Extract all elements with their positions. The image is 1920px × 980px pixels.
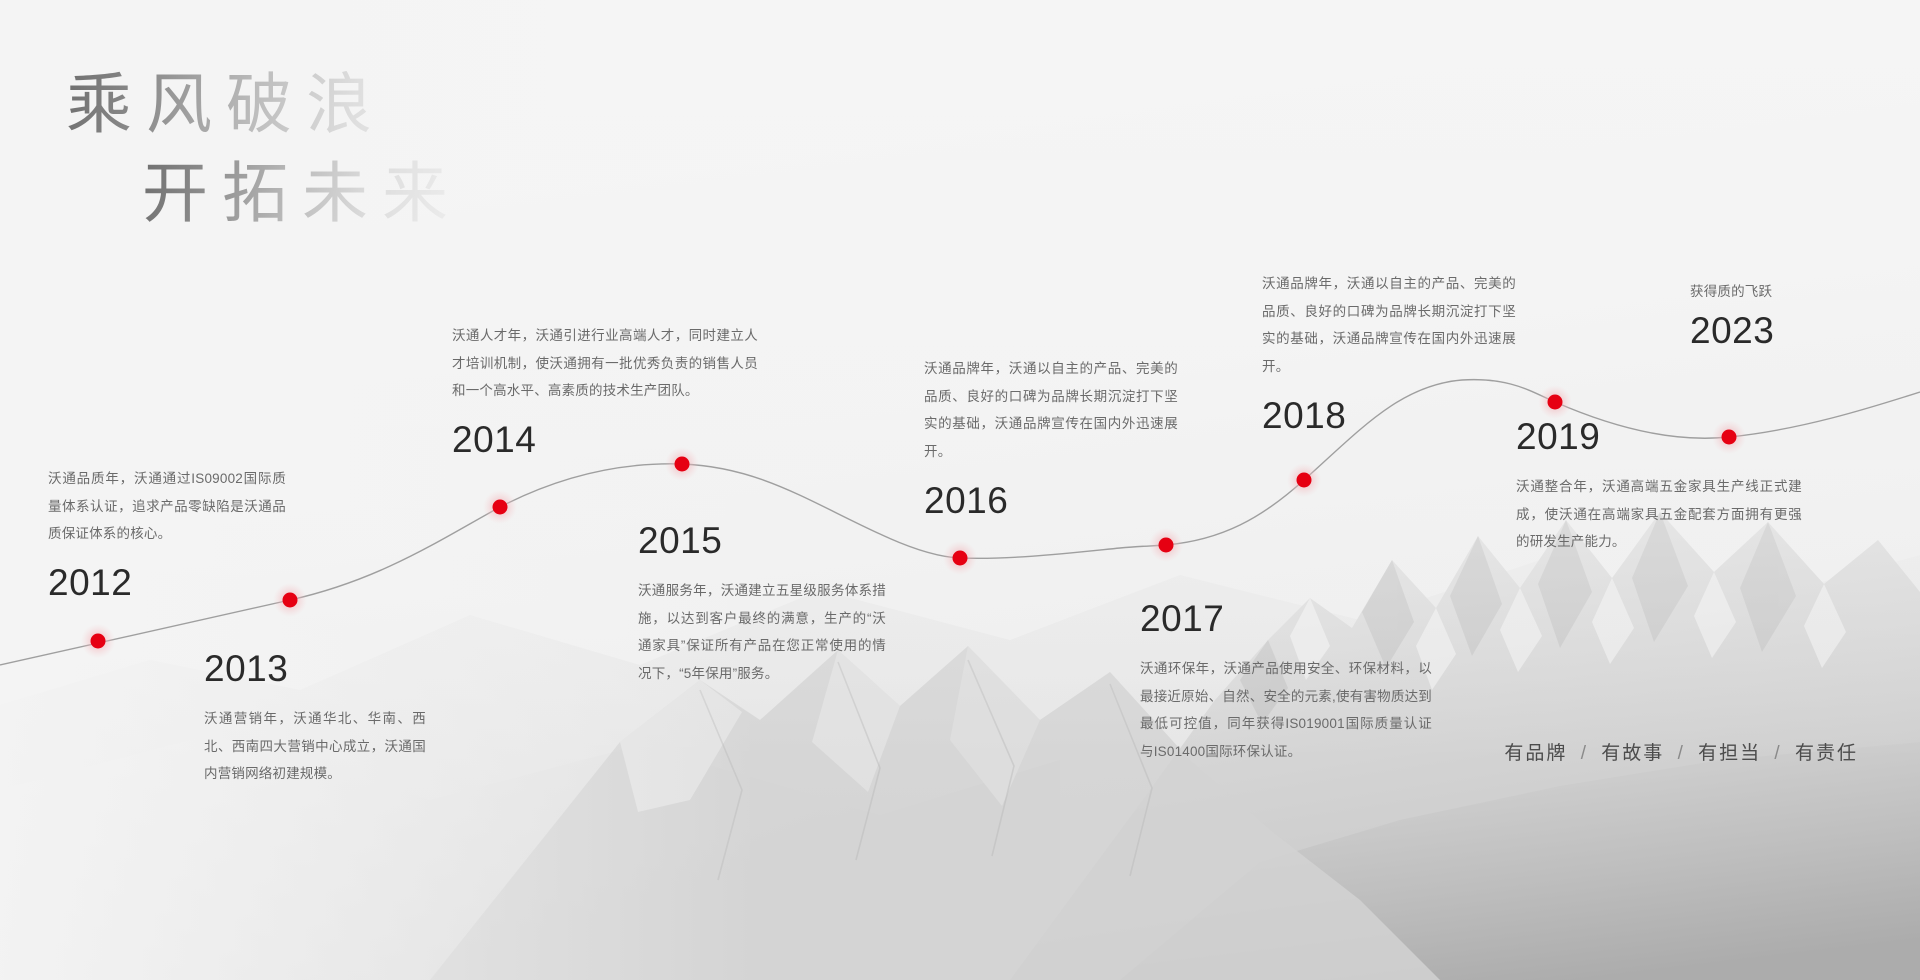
timeline-entry-2015-description: 沃通服务年，沃通建立五星级服务体系措施，以达到客户最终的满意，生产的“沃通家具”… <box>638 577 886 688</box>
timeline-entry-2012-year: 2012 <box>48 564 286 601</box>
timeline-entry-2016-description: 沃通品牌年，沃通以自主的产品、完美的品质、良好的口碑为品牌长期沉淀打下坚实的基础… <box>924 355 1178 466</box>
timeline-entry-2017-year: 2017 <box>1140 600 1432 637</box>
timeline-entry-2012: 沃通品质年，沃通通过IS09002国际质量体系认证，追求产品零缺陷是沃通品质保证… <box>48 465 286 601</box>
footer-slogan-part-2: 有故事 <box>1601 743 1664 764</box>
footer-slogan: 有品牌 / 有故事 / 有担当 / 有责任 <box>1504 738 1858 765</box>
timeline-node-2012 <box>81 624 115 658</box>
timeline-entry-2019-description: 沃通整合年，沃通高端五金家具生产线正式建成，使沃通在高端家具五金配套方面拥有更强… <box>1516 473 1802 556</box>
timeline-entry-2023-year: 2023 <box>1690 312 1890 349</box>
timeline-entry-2012-description: 沃通品质年，沃通通过IS09002国际质量体系认证，追求产品零缺陷是沃通品质保证… <box>48 465 286 548</box>
timeline-node-2014 <box>483 490 517 524</box>
timeline-entry-2017-description: 沃通环保年，沃通产品使用安全、环保材料，以最接近原始、自然、安全的元素,使有害物… <box>1140 655 1432 766</box>
timeline-entry-2019-year: 2019 <box>1516 418 1802 455</box>
timeline-entry-2023-description: 获得质的飞跃 <box>1690 278 1890 306</box>
footer-slogan-separator-2: / <box>1678 743 1685 764</box>
timeline-entry-2018: 沃通品牌年，沃通以自主的产品、完美的品质、良好的口碑为品牌长期沉淀打下坚实的基础… <box>1262 270 1516 434</box>
timeline-entry-2016-year: 2016 <box>924 482 1178 519</box>
timeline-entry-2013-description: 沃通营销年，沃通华北、华南、西北、西南四大营销中心成立，沃通国内营销网络初建规模… <box>204 705 426 788</box>
timeline-node-2018 <box>1287 463 1321 497</box>
timeline-entry-2018-description: 沃通品牌年，沃通以自主的产品、完美的品质、良好的口碑为品牌长期沉淀打下坚实的基础… <box>1262 270 1516 381</box>
timeline-entry-2019: 2019 沃通整合年，沃通高端五金家具生产线正式建成，使沃通在高端家具五金配套方… <box>1516 418 1802 556</box>
timeline-poster: 乘风破浪 开拓未来 <box>0 0 1920 980</box>
timeline-entry-2014: 沃通人才年，沃通引进行业高端人才，同时建立人才培训机制，使沃通拥有一批优秀负责的… <box>452 322 758 458</box>
timeline-entry-2014-description: 沃通人才年，沃通引进行业高端人才，同时建立人才培训机制，使沃通拥有一批优秀负责的… <box>452 322 758 405</box>
footer-slogan-part-1: 有品牌 <box>1504 743 1567 764</box>
timeline-node-2017 <box>1149 528 1183 562</box>
headline-line-1: 乘风破浪 <box>66 66 462 147</box>
timeline-entry-2013-year: 2013 <box>204 650 426 687</box>
timeline-node-2016 <box>943 541 977 575</box>
timeline-entry-2015-year: 2015 <box>638 522 886 559</box>
timeline-entry-2013: 2013 沃通营销年，沃通华北、华南、西北、西南四大营销中心成立，沃通国内营销网… <box>204 650 426 788</box>
timeline-entry-2016: 沃通品牌年，沃通以自主的产品、完美的品质、良好的口碑为品牌长期沉淀打下坚实的基础… <box>924 355 1178 519</box>
timeline-entry-2014-year: 2014 <box>452 421 758 458</box>
footer-slogan-part-3: 有担当 <box>1698 743 1761 764</box>
timeline-entry-2015: 2015 沃通服务年，沃通建立五星级服务体系措施，以达到客户最终的满意，生产的“… <box>638 522 886 688</box>
footer-slogan-part-4: 有责任 <box>1795 743 1858 764</box>
timeline-entry-2017: 2017 沃通环保年，沃通产品使用安全、环保材料，以最接近原始、自然、安全的元素… <box>1140 600 1432 766</box>
footer-slogan-separator-3: / <box>1774 743 1781 764</box>
timeline-entry-2018-year: 2018 <box>1262 397 1516 434</box>
timeline-node-2019 <box>1538 385 1572 419</box>
footer-slogan-separator-1: / <box>1581 743 1588 764</box>
page-title: 乘风破浪 开拓未来 <box>66 66 462 235</box>
timeline-entry-2023: 获得质的飞跃 2023 <box>1690 278 1890 349</box>
headline-line-2: 开拓未来 <box>142 155 462 236</box>
